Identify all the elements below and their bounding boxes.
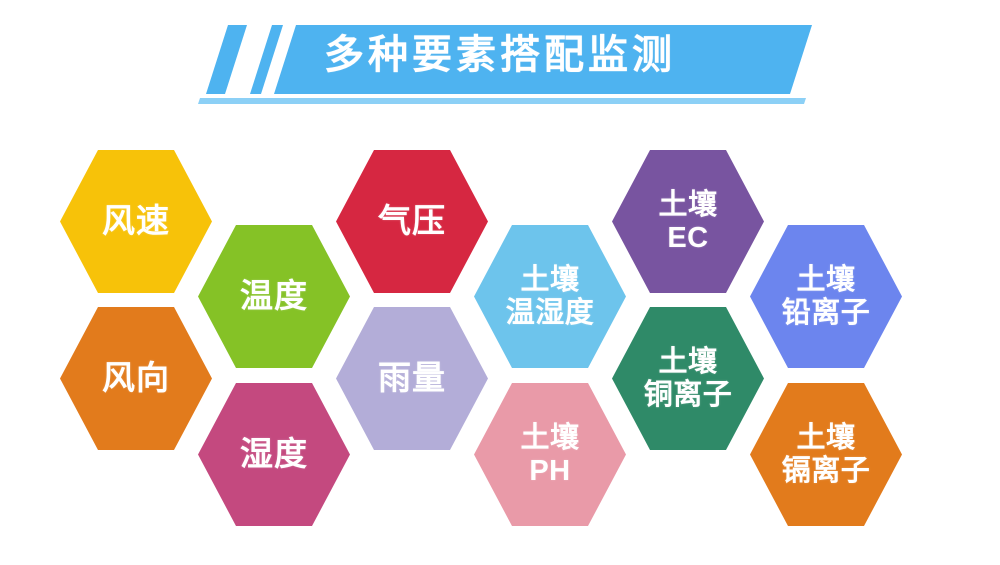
hex-tile-wind-direction[interactable]: 风向 [60, 307, 212, 450]
hex-tile-soil-lead-ion[interactable]: 土壤 铅离子 [750, 225, 902, 368]
hex-label: 土壤 镉离子 [776, 422, 877, 487]
title-banner: 多种要素搭配监测 [0, 0, 1000, 125]
hex-label: 土壤 铅离子 [776, 264, 877, 329]
hex-label: 土壤 铜离子 [638, 346, 739, 411]
hex-label: 湿度 [234, 436, 314, 473]
hex-label: 温度 [234, 278, 314, 315]
hex-tile-rainfall[interactable]: 雨量 [336, 307, 488, 450]
hex-tile-soil-ph[interactable]: 土壤 PH [474, 383, 626, 526]
hex-label: 气压 [372, 203, 452, 240]
hex-label: 风速 [96, 203, 176, 240]
hex-tile-soil-copper-ion[interactable]: 土壤 铜离子 [612, 307, 764, 450]
hex-tile-humidity[interactable]: 湿度 [198, 383, 350, 526]
banner-shape [0, 0, 1000, 125]
hex-label: 土壤 PH [514, 422, 585, 487]
hex-grid: 风速 风向 温度 湿度 气压 雨量 土壤 温湿度 土壤 PH 土壤 EC 土壤 … [0, 125, 1000, 565]
hex-tile-wind-speed[interactable]: 风速 [60, 150, 212, 293]
banner-underline [198, 98, 806, 104]
hex-tile-soil-ec[interactable]: 土壤 EC [612, 150, 764, 293]
hex-tile-soil-cadmium-ion[interactable]: 土壤 镉离子 [750, 383, 902, 526]
hex-label: 雨量 [372, 360, 452, 397]
hex-label: 风向 [96, 360, 176, 397]
hex-tile-soil-temp-humidity[interactable]: 土壤 温湿度 [474, 225, 626, 368]
hex-tile-air-pressure[interactable]: 气压 [336, 150, 488, 293]
hex-label: 土壤 温湿度 [500, 264, 601, 329]
hex-label: 土壤 EC [652, 189, 723, 254]
hex-tile-temperature[interactable]: 温度 [198, 225, 350, 368]
banner-slab [206, 25, 812, 94]
